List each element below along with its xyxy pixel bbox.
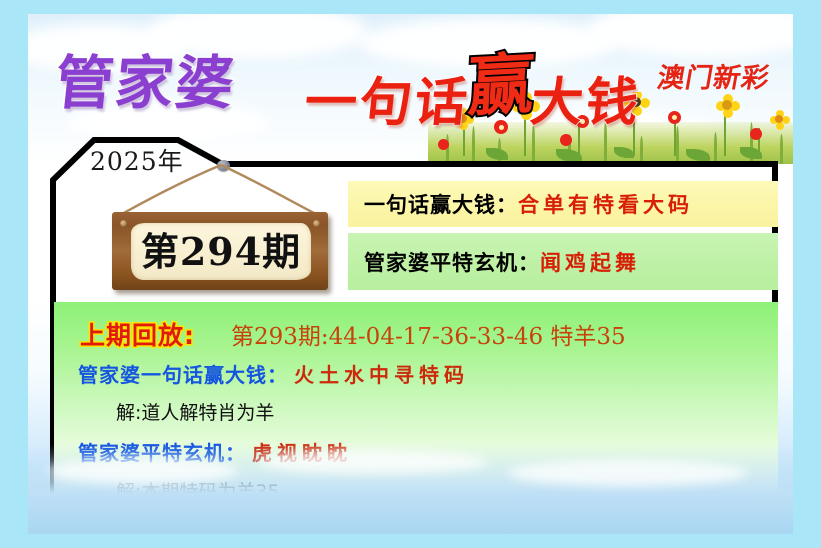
replay-title: 上期回放: — [80, 316, 195, 352]
title-slogan-emphasis: 赢 — [466, 30, 540, 129]
flower-icon — [770, 110, 790, 130]
poster-canvas: 管家婆 一句话赢大钱 澳门新彩 2025年 第294期 一句话赢 — [28, 14, 793, 534]
slogan-history-row: 管家婆一句话赢大钱： 火土水中寻特码 — [78, 359, 469, 388]
bottom-sky — [28, 444, 793, 534]
row-mystery-label: 管家婆平特玄机： — [364, 247, 540, 277]
row-mystery-value: 闻鸡起舞 — [540, 247, 640, 277]
brand-label: 澳门新彩 — [655, 56, 774, 95]
title-slogan-post: 大钱 — [528, 73, 644, 133]
slogan-answer-text: 解:道人解特肖为羊 — [116, 398, 274, 425]
row-slogan: 一句话赢大钱： 合单有特看大码 — [348, 181, 778, 227]
issue-parchment: 第294期 — [131, 223, 311, 280]
row-mystery: 管家婆平特玄机： 闻鸡起舞 — [348, 233, 778, 290]
issue-board: 第294期 — [112, 212, 328, 290]
issue-number: 第294期 — [141, 233, 301, 271]
replay-value: 第293期:44-04-17-36-33-46 特羊35 — [231, 317, 626, 351]
flower-icon — [716, 94, 740, 118]
slogan-answer-row: 解:道人解特肖为羊 — [116, 398, 274, 425]
title-main: 管家婆 — [52, 36, 241, 120]
replay-row: 上期回放: 第293期:44-04-17-36-33-46 特羊35 — [80, 316, 626, 352]
slogan-history-label: 管家婆一句话赢大钱： — [78, 359, 288, 388]
slogan-history-value: 火土水中寻特码 — [294, 359, 469, 388]
row-slogan-value: 合单有特看大码 — [518, 189, 693, 219]
poster-root: 管家婆 一句话赢大钱 澳门新彩 2025年 第294期 一句话赢 — [0, 0, 821, 548]
flower-icon — [668, 111, 681, 124]
title-slogan-pre: 一句话 — [302, 73, 473, 133]
row-slogan-label: 一句话赢大钱： — [364, 189, 518, 219]
title-slogan: 一句话赢大钱 — [301, 44, 647, 140]
